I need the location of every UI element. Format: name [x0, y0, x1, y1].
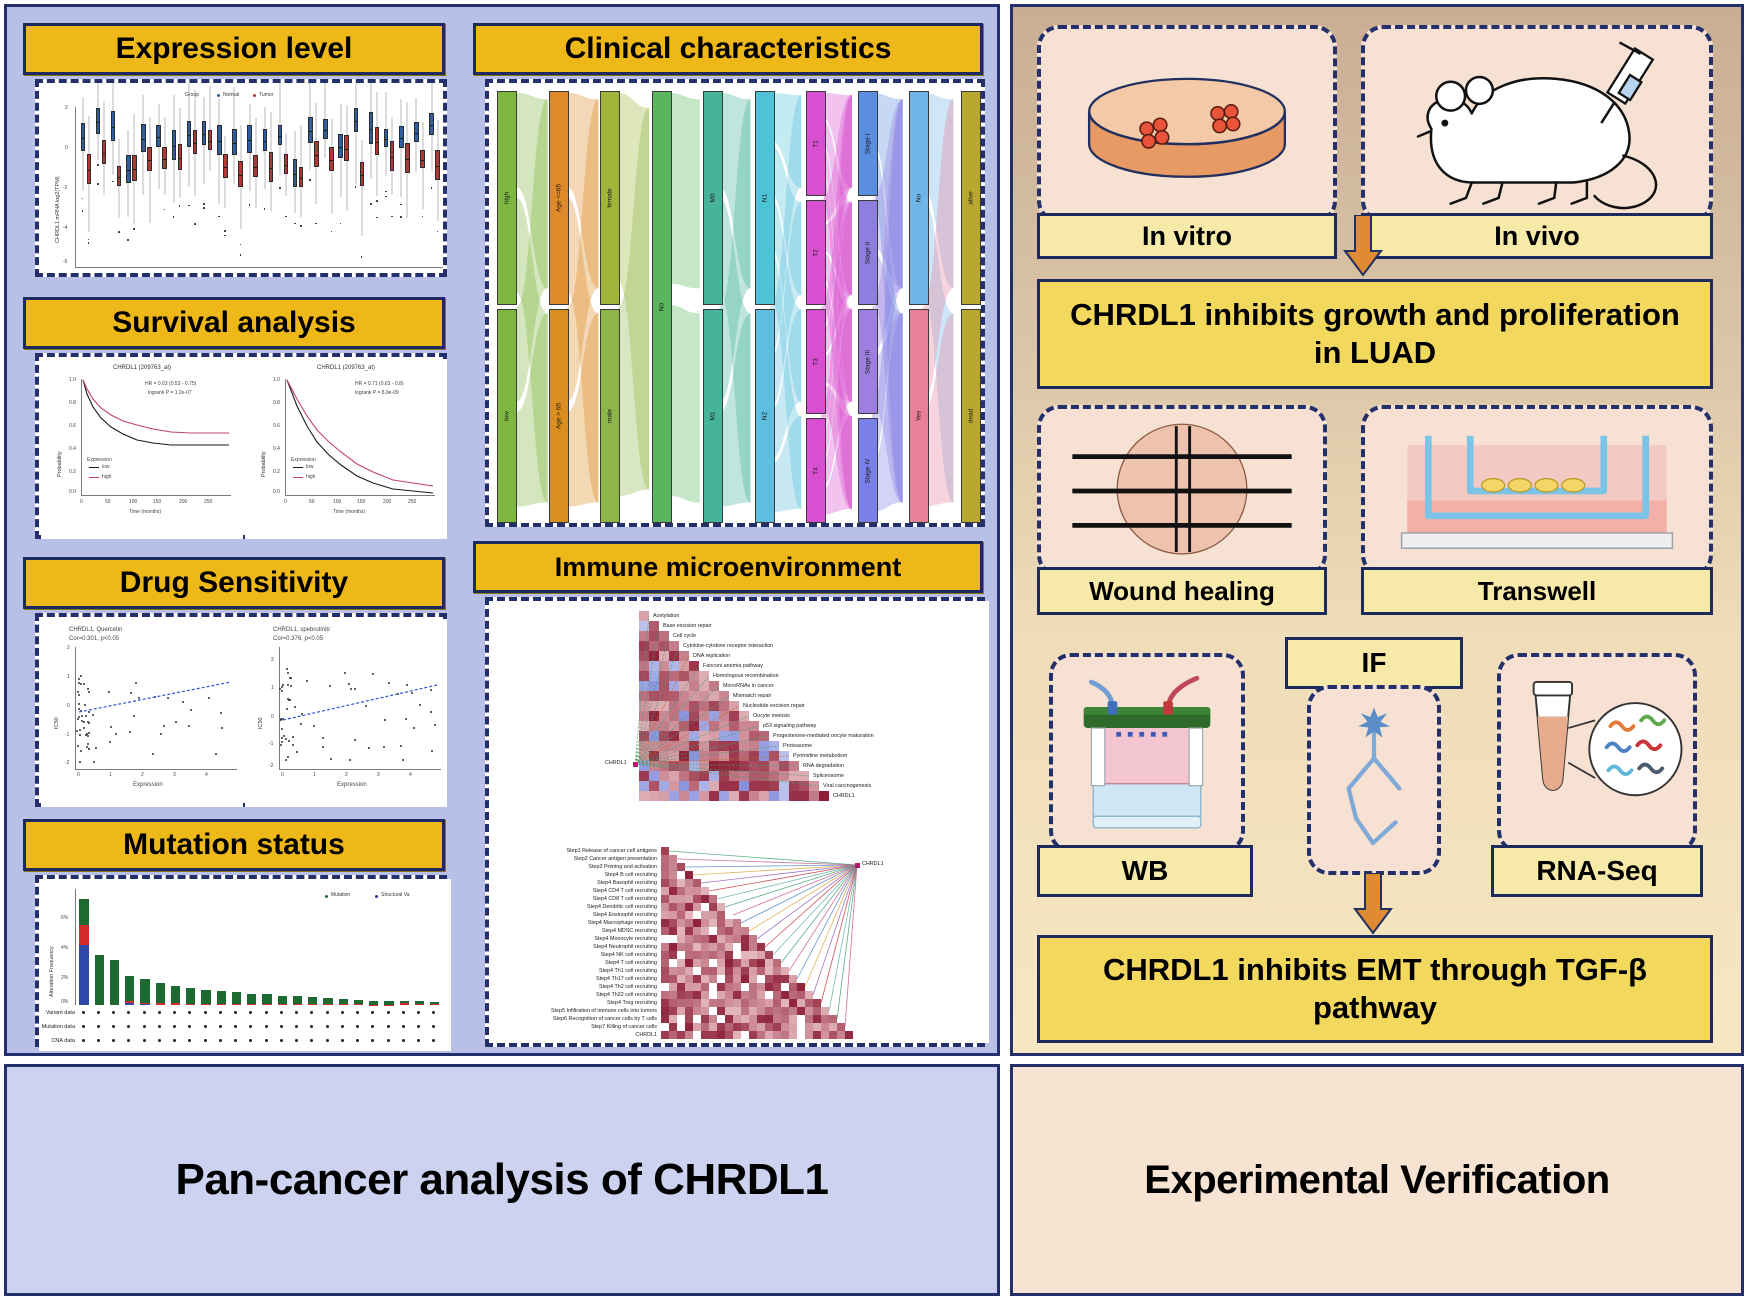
boxplot-median — [188, 135, 191, 136]
mutation-bar-segment — [79, 925, 88, 945]
mutation-data-dot — [326, 1039, 329, 1042]
mutation-bar-segment — [125, 1001, 134, 1003]
boxplot-rect — [217, 125, 222, 154]
boxplot-median — [103, 153, 106, 154]
boxplot-median — [127, 170, 130, 171]
pan-cancer-title: Pan-cancer analysis of CHRDL1 — [175, 1155, 828, 1205]
banner-drug-label: Drug Sensitivity — [120, 566, 348, 600]
expression-legend-title: Group — [185, 92, 199, 98]
mutation-data-dot — [280, 1039, 283, 1042]
boxplot-rect — [247, 125, 252, 153]
mutation-bar-segment — [95, 955, 104, 1005]
mutation-data-dot — [432, 1039, 435, 1042]
heatmap-link — [635, 756, 789, 764]
mutation-bar-segment — [217, 991, 226, 1004]
heatmap-link — [701, 865, 857, 883]
boxplot-outlier — [400, 216, 402, 218]
boxplot-rect — [162, 147, 167, 169]
boxplot-rect — [399, 126, 404, 148]
boxplot-whisker — [401, 99, 402, 197]
mutation-data-dot — [387, 1039, 390, 1042]
boxplot-median — [376, 142, 379, 143]
mutation-data-dot — [143, 1039, 146, 1042]
boxplot-rect — [429, 113, 434, 135]
mutation-data-dot — [295, 1039, 298, 1042]
boxplot-box — [132, 107, 137, 267]
mutation-data-dot — [234, 1011, 237, 1014]
label-wb: WB — [1037, 845, 1253, 897]
heatmap-link — [797, 865, 857, 979]
sankey-node-label: M1 — [710, 411, 717, 420]
transwell-icon — [1365, 409, 1709, 573]
boxplot-outlier — [361, 256, 363, 258]
boxplot-box — [147, 107, 152, 267]
heatmap-link — [635, 686, 719, 764]
boxplot-whisker — [355, 83, 356, 184]
boxplot-outlier — [279, 187, 281, 189]
boxplot-box — [299, 107, 304, 267]
boxplot-box — [141, 107, 146, 267]
mutation-data-dot — [112, 1011, 115, 1014]
heatmap-link — [635, 736, 769, 764]
mutation-data-dot — [219, 1025, 222, 1028]
boxplot-median — [194, 143, 197, 144]
boxplot-outlier — [294, 223, 296, 225]
mutation-bar-segment — [308, 1004, 317, 1005]
mutation-data-dot — [158, 1025, 161, 1028]
boxplot-rect — [338, 134, 343, 158]
boxplot-median — [142, 139, 145, 140]
mutation-bar-segment — [171, 986, 180, 1003]
statement-emt-tgfb: CHRDL1 inhibits EMT through TGF-β pathwa… — [1037, 935, 1713, 1043]
boxplot-box — [172, 107, 177, 267]
expression-plot-box: Group Normal Tumor CHRDL1 mRNA log2(TPM)… — [35, 79, 447, 277]
banner-survival-analysis: Survival analysis — [23, 297, 445, 349]
boxplot-outlier — [173, 216, 175, 218]
boxplot-rect — [360, 162, 365, 185]
mutation-data-dot — [356, 1025, 359, 1028]
mutation-data-dot — [249, 1039, 252, 1042]
heatmap-link — [741, 865, 857, 923]
heatmap-gene-node — [633, 762, 638, 767]
mutation-data-dot — [432, 1025, 435, 1028]
boxplot-rect — [147, 147, 152, 171]
boxplot-median — [118, 177, 121, 178]
boxplot-rect — [323, 119, 328, 139]
boxplot-median — [309, 131, 312, 132]
boxplot-rect — [117, 166, 122, 186]
heatmap-gene-node — [855, 863, 860, 868]
survival-plot-2: CHRDL1 (209763_at) Probability 1.0 0.8 0… — [245, 359, 447, 539]
right-section-footer: Experimental Verification — [1010, 1064, 1744, 1296]
mutation-bar-segment — [430, 1002, 439, 1004]
sankey-node-low: low — [497, 309, 517, 523]
boxplot-rect — [284, 154, 289, 173]
boxplot-outlier — [391, 216, 393, 218]
sankey-node-label: T4 — [813, 467, 820, 475]
boxplot-median — [370, 129, 373, 130]
mutation-bar-segment — [125, 1003, 134, 1005]
sankey-node-label: M0 — [710, 193, 717, 202]
boxplot-box — [223, 107, 228, 267]
mutation-bar-segment — [384, 1001, 393, 1004]
sankey-node-m1: M1 — [703, 309, 723, 523]
mutation-data-dot — [97, 1011, 100, 1014]
sankey-node-yes: Yes — [909, 309, 929, 523]
boxplot-median — [339, 147, 342, 148]
mutation-bar-segment — [293, 996, 302, 1004]
heatmap-link — [635, 656, 689, 764]
boxplot-median — [112, 127, 115, 128]
mutation-data-dot — [326, 1011, 329, 1014]
mutation-data-dot — [234, 1039, 237, 1042]
boxplot-median — [406, 159, 409, 160]
mut-rowlabel-0: Variant data — [39, 1010, 75, 1016]
sankey-node-label: Stage III — [864, 349, 871, 373]
sankey-node-t3: T3 — [806, 309, 826, 414]
mutation-data-dot — [158, 1011, 161, 1014]
mutation-data-dot — [82, 1039, 85, 1042]
boxplot-rect — [232, 129, 237, 155]
heatmap-link — [635, 764, 799, 766]
boxplot-rect — [126, 155, 131, 184]
boxplot-box — [420, 107, 425, 267]
sankey-node-label: T2 — [813, 249, 820, 257]
boxplot-rect — [156, 125, 161, 147]
sankey-node-label: Yes — [916, 411, 923, 422]
heatmap-link — [635, 666, 699, 764]
mutation-data-dot — [82, 1011, 85, 1014]
boxplot-median — [179, 158, 182, 159]
drug-plot-2: CHRDL1, spebrutinib Cor=0.376, p<0.05 IC… — [245, 619, 447, 807]
heatmap-link — [635, 706, 739, 764]
heatmap-link — [669, 851, 857, 865]
boxplot-box — [390, 107, 395, 267]
transwell-illustration-box — [1361, 405, 1713, 577]
boxplot-median — [233, 143, 236, 144]
mutation-data-dot — [417, 1039, 420, 1042]
boxplot-rect — [87, 154, 92, 184]
boxplot-box — [329, 107, 334, 267]
boxplot-median — [430, 125, 433, 126]
boxplot-box — [232, 107, 237, 267]
immune-heatmap-pathways: AcetylationBase excision repairCell cycl… — [489, 601, 989, 831]
boxplot-outlier — [315, 223, 317, 225]
boxplot-outlier — [188, 205, 190, 207]
boxplot-rect — [344, 135, 349, 162]
pan-cancer-panel: Expression level Group Normal Tumor CHRD… — [4, 4, 1000, 1056]
boxplot-box — [253, 107, 258, 267]
expression-ytick-1: 0 — [65, 145, 68, 151]
mutation-data-dot — [295, 1025, 298, 1028]
boxplot-median — [157, 137, 160, 138]
boxplot-rect — [414, 122, 419, 141]
if-text: IF — [1362, 647, 1387, 679]
boxplot-rect — [299, 167, 304, 186]
boxplot-box — [111, 107, 116, 267]
survival2-curves — [245, 359, 447, 539]
banner-survival-label: Survival analysis — [112, 306, 356, 340]
boxplot-rect — [111, 111, 116, 142]
mutation-bar-segment — [171, 1003, 180, 1005]
mutation-bar-segment — [400, 1001, 409, 1004]
mutation-barplot: Alteration Frequency 6% 4% 2% 0% Mutatio… — [39, 879, 451, 1051]
transwell-text: Transwell — [1478, 576, 1597, 607]
boxplot-outlier — [431, 187, 433, 189]
wb-text: WB — [1122, 855, 1169, 887]
mutation-data-dot — [341, 1025, 344, 1028]
mutation-data-dot — [188, 1025, 191, 1028]
mutation-bar-segment — [354, 1000, 363, 1005]
clinical-sankey-box: highlowAge <=65Age > 65femalemaleN0M0M1N… — [485, 79, 985, 527]
heatmap-link — [635, 636, 669, 764]
boxplot-whisker — [361, 140, 362, 236]
mutation-bar-segment — [140, 1004, 149, 1005]
mutation-data-dot — [417, 1011, 420, 1014]
legend-label-tumor: Tumor — [259, 92, 273, 98]
sankey-node-n1: N1 — [755, 91, 775, 305]
heatmap-link — [717, 865, 857, 899]
sankey-link — [669, 305, 700, 503]
tube-rna-icon — [1501, 657, 1693, 849]
mutation-bar-segment — [186, 988, 195, 1004]
label-transwell: Transwell — [1361, 567, 1713, 615]
expression-ytick-0: 2 — [65, 105, 68, 111]
boxplot-median — [330, 160, 333, 161]
boxplot-outlier — [127, 239, 129, 241]
arrow-down-to-statement-1 — [1343, 215, 1383, 277]
mutation-data-dot — [371, 1011, 374, 1014]
boxplot-median — [361, 175, 364, 176]
mutation-data-dot — [356, 1039, 359, 1042]
boxplot-box — [87, 107, 92, 267]
mutation-bar-segment — [232, 992, 241, 1004]
boxplot-rect — [293, 159, 298, 187]
wound-healing-icon — [1041, 409, 1323, 573]
mutation-data-dot — [402, 1025, 405, 1028]
boxplot-outlier — [194, 223, 196, 225]
mutation-data-dot — [204, 1039, 207, 1042]
experimental-verification-title: Experimental Verification — [1144, 1158, 1609, 1203]
mutation-bar-segment — [369, 1001, 378, 1005]
expression-box-group — [79, 107, 443, 267]
mutation-data-dot — [310, 1025, 313, 1028]
boxplot-rect — [172, 130, 177, 160]
western-blot-icon — [1053, 657, 1241, 849]
drug2-trend-line — [245, 619, 447, 807]
sankey-node-stage-iii: Stage III — [858, 309, 878, 414]
petri-dish-icon — [1041, 29, 1333, 219]
mutation-data-dot — [188, 1039, 191, 1042]
if-illustration-box — [1307, 685, 1441, 875]
boxplot-outlier — [385, 196, 387, 198]
mutation-data-dot — [219, 1011, 222, 1014]
boxplot-rect — [81, 123, 86, 150]
mutation-bar-segment — [247, 994, 256, 1004]
mutation-data-dot — [204, 1025, 207, 1028]
sankey-node-label: male — [607, 409, 614, 423]
boxplot-box — [375, 107, 380, 267]
rna-seq-text: RNA-Seq — [1536, 855, 1657, 887]
boxplot-rect — [193, 130, 198, 154]
boxplot-rect — [420, 150, 425, 169]
mutation-bar-segment — [201, 990, 210, 1004]
sankey-node-label: T1 — [813, 140, 820, 148]
heatmap-link — [677, 859, 857, 865]
sankey-node-label: No — [916, 194, 923, 202]
heatmap-network-links — [489, 829, 989, 1043]
boxplot-box — [202, 107, 207, 267]
boxplot-outlier — [437, 231, 439, 233]
mutation-data-dot — [295, 1011, 298, 1014]
boxplot-outlier — [355, 186, 357, 188]
graphical-abstract: Expression level Group Normal Tumor CHRD… — [0, 0, 1748, 1302]
mutation-bar-segment — [140, 979, 149, 1003]
drug-plot-box: CHRDL1, Quercetin Cor=0.301, p<0.05 IC50… — [35, 613, 447, 807]
sankey-node-label: N2 — [761, 412, 768, 420]
boxplot-outlier — [82, 210, 84, 212]
mutation-data-dot — [265, 1039, 268, 1042]
mut-yt2: 2% — [61, 975, 68, 981]
boxplot-whisker — [210, 86, 211, 171]
banner-clinical-characteristics: Clinical characteristics — [473, 23, 983, 75]
boxplot-outlier — [133, 228, 135, 230]
mutation-bar-segment — [400, 1003, 409, 1005]
mutation-dot-matrix — [77, 1007, 443, 1051]
boxplot-outlier — [285, 216, 287, 218]
mutation-data-dot — [341, 1039, 344, 1042]
sankey-node-dead: dead — [961, 309, 981, 523]
experimental-verification-panel: In vitro — [1010, 4, 1744, 1056]
boxplot-box — [217, 107, 222, 267]
mutation-bar-segment — [293, 1004, 302, 1005]
mutation-data-dot — [387, 1011, 390, 1014]
boxplot-rect — [187, 121, 192, 146]
heatmap-link — [635, 616, 649, 764]
boxplot-rect — [278, 125, 283, 145]
mutation-bar-segment — [156, 983, 165, 1004]
boxplot-median — [88, 170, 91, 171]
heatmap-link — [635, 646, 679, 764]
boxplot-rect — [308, 117, 313, 143]
mutation-data-dot — [112, 1025, 115, 1028]
mutation-data-dot — [143, 1025, 146, 1028]
expression-ytick-3: -4 — [63, 225, 67, 231]
boxplot-median — [82, 138, 85, 139]
heatmap-gene-label: CHRDL1 — [862, 861, 884, 867]
boxplot-box — [308, 107, 313, 267]
mut-rowlabel-1: Mutation data — [39, 1024, 75, 1030]
boxplot-median — [133, 169, 136, 170]
boxplot-box — [344, 107, 349, 267]
boxplot-outlier — [203, 207, 205, 209]
mutation-data-dot — [173, 1011, 176, 1014]
boxplot-box — [269, 107, 274, 267]
mutation-data-dot — [234, 1025, 237, 1028]
boxplot-rect — [384, 129, 389, 147]
boxplot-box — [156, 107, 161, 267]
boxplot-median — [300, 178, 303, 179]
mutation-bar-segment — [186, 1004, 195, 1005]
boxplot-box — [178, 107, 183, 267]
immune-heatmap-immunity-cycle: Step1 Release of cancer cell antigensSte… — [489, 829, 989, 1043]
antibody-icon — [1311, 689, 1437, 871]
expression-ytick-4: -6 — [63, 259, 67, 265]
boxplot-median — [324, 130, 327, 131]
boxplot-outlier — [224, 230, 226, 232]
banner-expression-label: Expression level — [116, 32, 353, 66]
mutation-bar-segment — [354, 1004, 363, 1005]
boxplot-box — [193, 107, 198, 267]
mutation-data-dot — [82, 1025, 85, 1028]
boxplot-outlier — [82, 198, 84, 200]
mutation-data-dot — [127, 1039, 130, 1042]
boxplot-median — [148, 160, 151, 161]
boxplot-median — [279, 136, 282, 137]
boxplot-outlier — [376, 200, 378, 202]
mutation-data-dot — [143, 1011, 146, 1014]
label-in-vitro: In vitro — [1037, 213, 1337, 259]
label-if: IF — [1285, 637, 1463, 689]
boxplot-box — [263, 107, 268, 267]
boxplot-outlier — [400, 204, 402, 206]
boxplot-box — [117, 107, 122, 267]
boxplot-rect — [314, 141, 319, 166]
boxplot-median — [239, 175, 242, 176]
in-vivo-text: In vivo — [1494, 221, 1580, 252]
mutation-data-dot — [265, 1025, 268, 1028]
sankey-node-label: high — [504, 192, 511, 204]
mutation-data-dot — [112, 1039, 115, 1042]
in-vitro-illustration-box — [1037, 25, 1337, 223]
arrow-down-to-statement-2 — [1353, 873, 1393, 935]
boxplot-outlier — [112, 181, 114, 183]
boxplot-median — [285, 165, 288, 166]
expression-y-axis — [75, 107, 76, 267]
mutation-data-dot — [356, 1011, 359, 1014]
banner-clinical-label: Clinical characteristics — [565, 32, 892, 66]
mutation-data-dot — [371, 1039, 374, 1042]
mutation-data-dot — [432, 1011, 435, 1014]
mutation-bar-segment — [232, 1004, 241, 1005]
heatmap-link — [709, 865, 857, 891]
sankey-node-label: Stage IV — [864, 458, 871, 483]
clinical-sankey-diagram: highlowAge <=65Age > 65femalemaleN0M0M1N… — [489, 83, 981, 523]
boxplot-outlier — [331, 231, 333, 233]
boxplot-rect — [405, 143, 410, 173]
boxplot-median — [345, 149, 348, 150]
boxplot-rect — [208, 130, 213, 149]
drug-plot-1: CHRDL1, Quercetin Cor=0.301, p<0.05 IC50… — [41, 619, 243, 807]
sankey-node-high: high — [497, 91, 517, 305]
boxplot-rect — [96, 108, 101, 134]
boxplot-median — [97, 122, 100, 123]
in-vivo-illustration-box — [1361, 25, 1713, 223]
boxplot-median — [203, 134, 206, 135]
boxplot-outlier — [179, 205, 181, 207]
wb-illustration-box — [1049, 653, 1245, 853]
sankey-node-label: alive — [968, 191, 975, 204]
mutation-data-dot — [310, 1039, 313, 1042]
mut-yt1: 4% — [61, 945, 68, 951]
boxplot-box — [384, 107, 389, 267]
boxplot-outlier — [300, 225, 302, 227]
boxplot-box — [238, 107, 243, 267]
boxplot-outlier — [249, 204, 251, 206]
boxplot-outlier — [422, 216, 424, 218]
boxplot-box — [278, 107, 283, 267]
boxplot-median — [270, 168, 273, 169]
